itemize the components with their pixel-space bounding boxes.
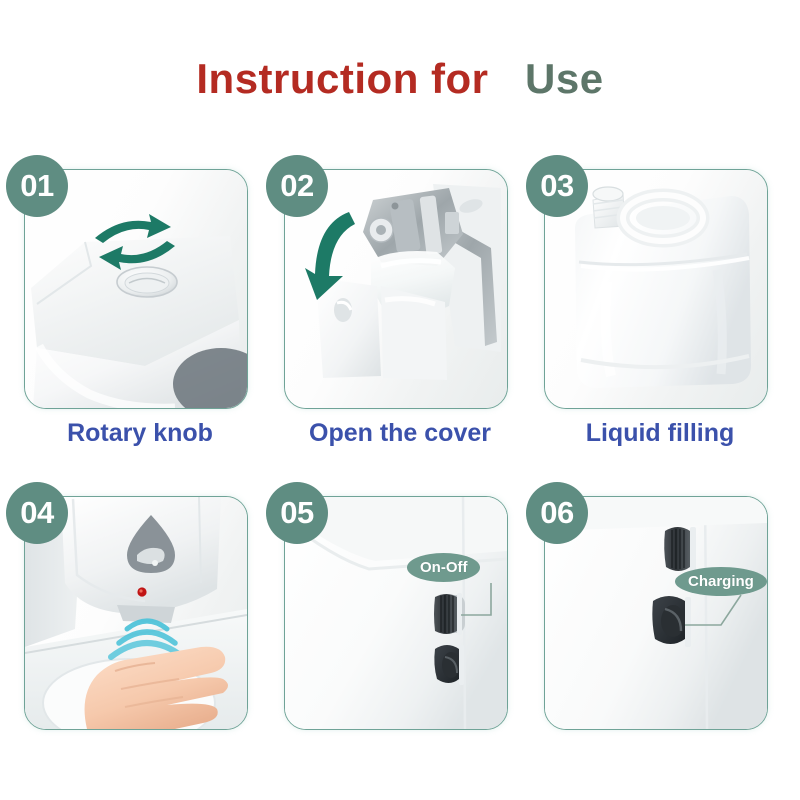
step-card-05: On-Off 05 (274, 490, 526, 755)
step-number-badge-06: 06 (526, 482, 588, 544)
port-icon (434, 645, 464, 685)
step-caption-03: Liquid filling (534, 419, 786, 448)
step-caption-02: Open the cover (274, 419, 526, 448)
step-caption-01: Rotary knob (14, 419, 266, 448)
step-number-badge-05: 05 (266, 482, 328, 544)
steps-grid: 01 Rotary knob (14, 163, 786, 755)
on-off-switch-icon (664, 527, 696, 573)
step-number-badge-01: 01 (6, 155, 68, 217)
step-number-badge-04: 04 (6, 482, 68, 544)
charging-port-icon (652, 596, 691, 647)
callout-charging: Charging (675, 567, 767, 596)
step-card-06: Charging 06 (534, 490, 786, 755)
step-card-01: 01 Rotary knob (14, 163, 266, 490)
page-title: Instruction for Use (0, 58, 800, 100)
step-number-badge-03: 03 (526, 155, 588, 217)
step-card-03: 03 Liquid filling (534, 163, 786, 490)
on-off-switch-icon (434, 593, 465, 635)
step-number-badge-02: 02 (266, 155, 328, 217)
step-card-02: 02 Open the cover (274, 163, 526, 490)
callout-on-off: On-Off (407, 553, 480, 582)
page-title-primary: Instruction for (196, 55, 488, 102)
page-title-accent: Use (525, 55, 604, 102)
step-card-04: 04 (14, 490, 266, 755)
